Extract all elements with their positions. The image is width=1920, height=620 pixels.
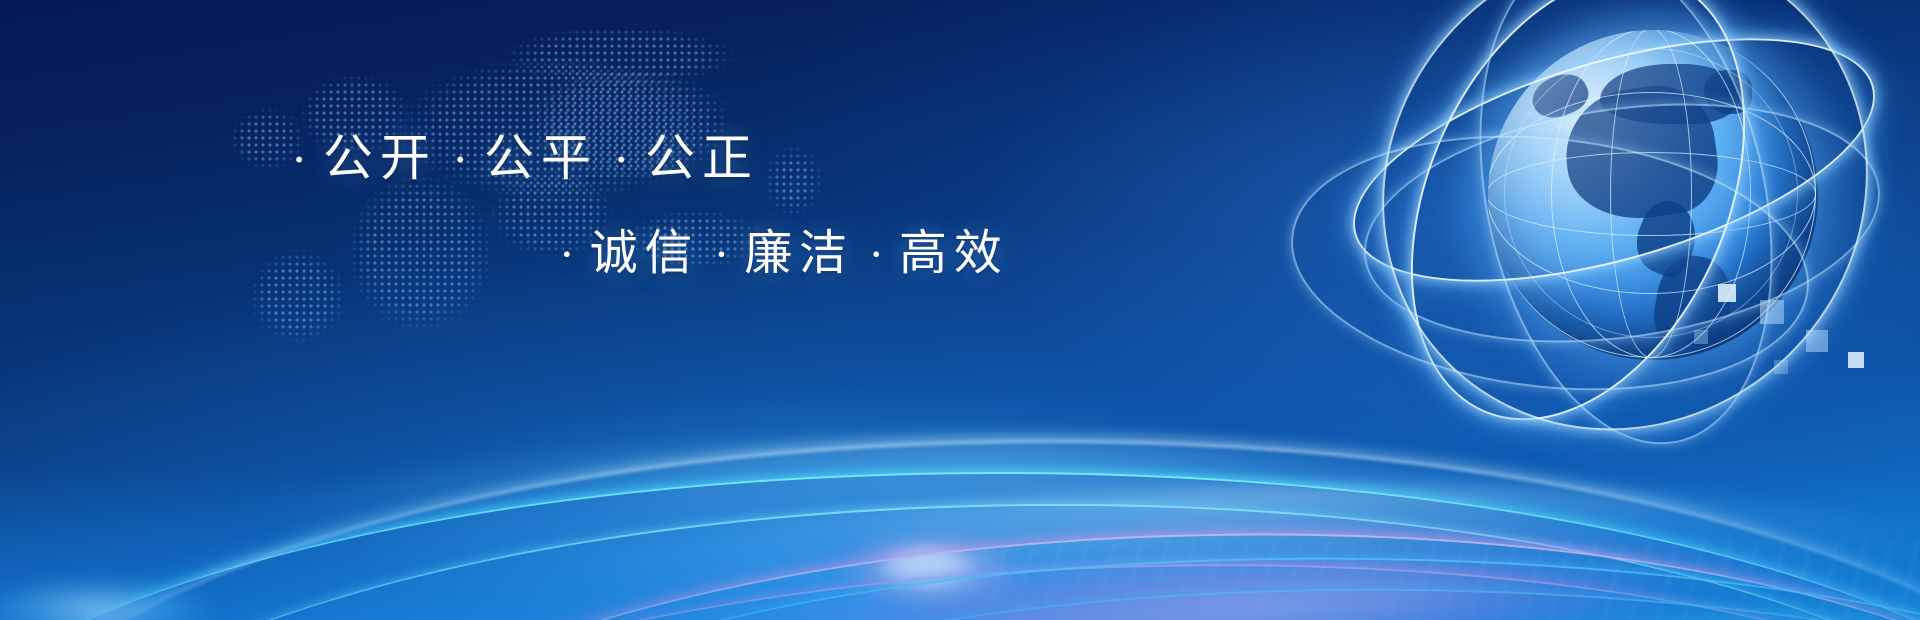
slogan-word-chengxin: 诚信 xyxy=(590,225,699,281)
banner-root: · 公开 · 公平 · 公正 · 诚信 · 廉洁 · 高效 xyxy=(0,0,1920,620)
slogan-separator: · xyxy=(292,133,307,186)
slogan-block: · 公开 · 公平 · 公正 · 诚信 · 廉洁 · 高效 xyxy=(0,132,1150,279)
map-region-siberia xyxy=(470,16,770,96)
slogan-line-2: · 诚信 · 廉洁 · 高效 xyxy=(0,228,1150,279)
slogan-separator: · xyxy=(715,230,729,280)
slogan-word-gongkai: 公开 xyxy=(323,129,437,187)
slogan-separator: · xyxy=(453,133,468,186)
slogan-line-1: · 公开 · 公平 · 公正 xyxy=(0,132,1150,185)
bottom-fade xyxy=(0,470,1920,620)
slogan-word-lianjie: 廉洁 xyxy=(744,225,853,281)
slogan-separator: · xyxy=(560,230,574,280)
slogan-word-gongping: 公平 xyxy=(484,129,598,187)
slogan-word-gaoxiao: 高效 xyxy=(899,225,1008,281)
light-wave-streaks xyxy=(0,290,1920,620)
slogan-separator: · xyxy=(614,133,629,186)
slogan-word-gongzheng: 公正 xyxy=(645,129,759,187)
slogan-separator: · xyxy=(869,230,883,280)
